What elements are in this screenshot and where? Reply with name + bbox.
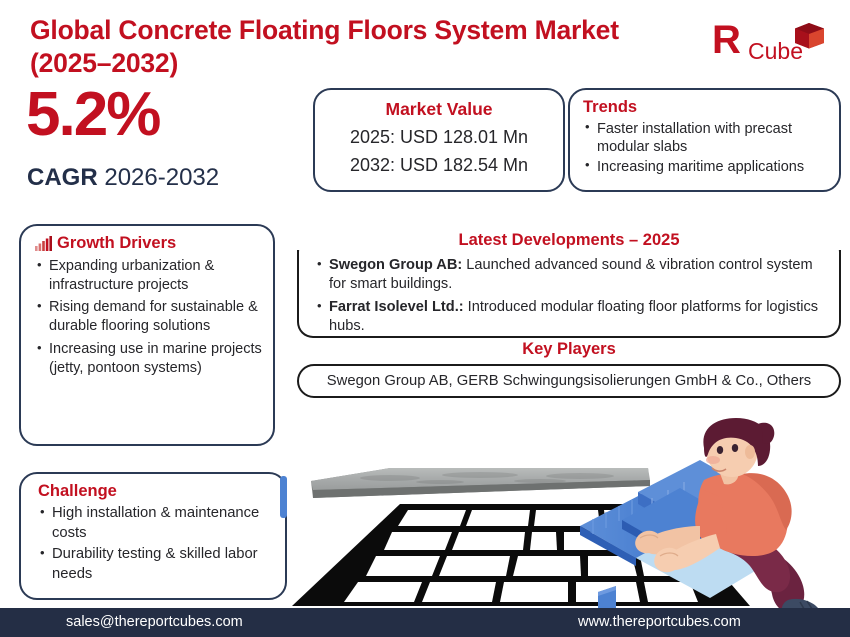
company-name: Swegon Group AB:	[329, 257, 462, 273]
cagr-label-range: 2026-2032	[104, 164, 219, 191]
growth-drivers-header-row: Growth Drivers	[35, 234, 273, 253]
footer-bar: sales@thereportcubes.com www.thereportcu…	[0, 608, 850, 637]
cagr-value: 5.2%	[26, 84, 159, 146]
footer-website[interactable]: www.thereportcubes.com	[578, 614, 741, 630]
list-item: Durability testing & skilled labor needs	[38, 545, 279, 584]
list-item: Increasing use in marine projects (jetty…	[35, 340, 265, 378]
market-value-2025: 2025: USD 128.01 Mn	[315, 127, 563, 148]
cube-icon	[792, 20, 828, 56]
list-item: Expanding urbanization & infrastructure …	[35, 257, 265, 295]
cagr-label: CAGR 2026-2032	[27, 166, 219, 190]
trends-heading: Trends	[583, 98, 839, 117]
latest-developments-heading-text: Latest Developments – 2025	[452, 231, 685, 249]
brand-logo: Я Cube	[704, 14, 832, 72]
trends-list: Faster installation with precast modular…	[583, 120, 839, 176]
growth-drivers-list: Expanding urbanization & infrastructure …	[35, 257, 265, 378]
key-players-list: Swegon Group AB, GERB Schwingungsisolier…	[327, 373, 811, 389]
company-name: Farrat Isolevel Ltd.:	[329, 299, 464, 315]
list-item: Farrat Isolevel Ltd.: Introduced modular…	[315, 298, 825, 337]
challenge-heading: Challenge	[38, 482, 285, 501]
logo-mark: Я	[712, 20, 741, 60]
floating-floor-illustration	[280, 418, 850, 618]
key-players-heading: Key Players	[297, 340, 841, 359]
trends-box: Trends Faster installation with precast …	[568, 88, 841, 192]
growth-drivers-heading: Growth Drivers	[57, 234, 176, 253]
list-item: Swegon Group AB: Launched advanced sound…	[315, 256, 825, 295]
bar-chart-icon	[35, 236, 52, 251]
footer-email[interactable]: sales@thereportcubes.com	[66, 614, 243, 630]
latest-developments-heading: Latest Developments – 2025	[297, 231, 841, 250]
infographic-canvas: Global Concrete Floating Floors System M…	[0, 0, 850, 637]
challenge-list: High installation & maintenance costs Du…	[38, 504, 279, 585]
latest-developments-box: Swegon Group AB: Launched advanced sound…	[297, 238, 841, 338]
key-players-box: Swegon Group AB, GERB Schwingungsisolier…	[297, 364, 841, 398]
concrete-slab	[311, 468, 650, 498]
page-title: Global Concrete Floating Floors System M…	[30, 14, 670, 80]
panel-edge-left	[280, 476, 287, 518]
market-value-2032: 2032: USD 182.54 Mn	[315, 155, 563, 176]
growth-drivers-box: Growth Drivers Expanding urbanization & …	[19, 224, 275, 446]
cagr-label-bold: CAGR	[27, 164, 98, 191]
page-title-line1: Global Concrete Floating Floors System M…	[30, 14, 670, 47]
challenge-box: Challenge High installation & maintenanc…	[19, 472, 287, 600]
list-item: Faster installation with precast modular…	[583, 120, 839, 157]
market-value-box: Market Value 2025: USD 128.01 Mn 2032: U…	[313, 88, 565, 192]
latest-developments-list: Swegon Group AB: Launched advanced sound…	[315, 256, 825, 337]
list-item: Rising demand for sustainable & durable …	[35, 298, 265, 336]
page-title-line2: (2025–2032)	[30, 47, 670, 80]
list-item: Increasing maritime applications	[583, 158, 839, 176]
market-value-heading: Market Value	[315, 99, 563, 120]
list-item: High installation & maintenance costs	[38, 504, 279, 543]
